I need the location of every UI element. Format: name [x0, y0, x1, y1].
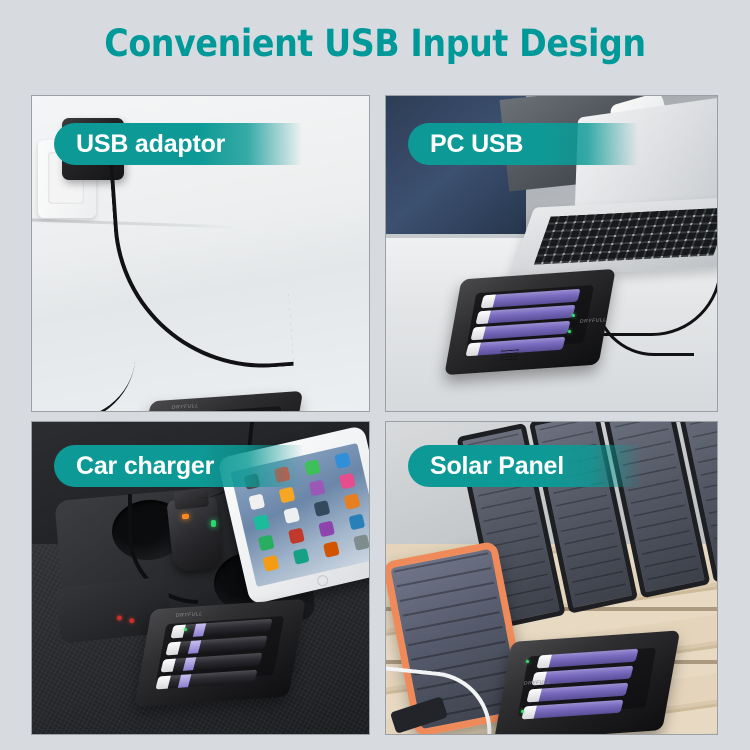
- charge-led: [526, 660, 529, 663]
- tablet-app-icon: [253, 514, 270, 531]
- adaptor-led-green: [211, 520, 216, 527]
- label-badge-pc-usb: PC USB: [408, 123, 638, 165]
- tablet-app-icon: [288, 528, 305, 545]
- tablet-app-icon: [322, 541, 339, 558]
- badge-label: Car charger: [76, 452, 214, 481]
- tablet-app-icon: [248, 494, 265, 511]
- label-badge-usb-adaptor: USB adaptor: [54, 123, 302, 165]
- tablet-app-icon: [283, 507, 300, 524]
- tablet-app-icon: [278, 487, 295, 504]
- tablet-app-icon: [304, 459, 321, 476]
- tablet-app-icon: [339, 473, 356, 490]
- control-indicator: [129, 618, 134, 623]
- tablet-app-icon: [308, 480, 325, 497]
- panel-car-charger: DRYFULL Car charger: [31, 421, 370, 735]
- badge-label: PC USB: [430, 130, 523, 159]
- panel-usb-adaptor: DRYFULL USB adaptor: [31, 95, 370, 412]
- battery-charger: DRYFULL: [144, 604, 296, 702]
- label-badge-solar-panel: Solar Panel: [408, 445, 643, 487]
- tablet-app-icon: [292, 548, 309, 565]
- charge-led: [521, 710, 524, 713]
- charger-vent: [499, 349, 519, 362]
- battery-charger: DRYFULL: [504, 636, 670, 735]
- tablet-app-icon: [318, 521, 335, 538]
- charge-led: [184, 628, 187, 631]
- battery-charger: DRYFULL: [454, 274, 606, 370]
- panel-solar-panel: DRYFULL Solar Panel: [385, 421, 718, 735]
- label-badge-car-charger: Car charger: [54, 445, 304, 487]
- tablet-app-icon: [348, 514, 365, 531]
- tablet-app-icon: [334, 452, 351, 469]
- tablet-app-icon: [313, 500, 330, 517]
- tablet-home-button: [316, 574, 329, 587]
- battery-charger: DRYFULL: [144, 396, 294, 412]
- page-title: Convenient USB Input Design: [0, 22, 750, 65]
- badge-label: Solar Panel: [430, 452, 564, 481]
- charge-led: [572, 314, 575, 317]
- tablet-app-icon: [353, 534, 370, 551]
- panel-pc-usb: DRYFULL PC USB: [385, 95, 718, 412]
- tablet-app-icon: [257, 535, 274, 552]
- badge-label: USB adaptor: [76, 130, 225, 159]
- tablet-app-icon: [262, 555, 279, 572]
- charge-led: [568, 330, 571, 333]
- control-indicator: [117, 615, 122, 620]
- tablet-app-icon: [343, 493, 360, 510]
